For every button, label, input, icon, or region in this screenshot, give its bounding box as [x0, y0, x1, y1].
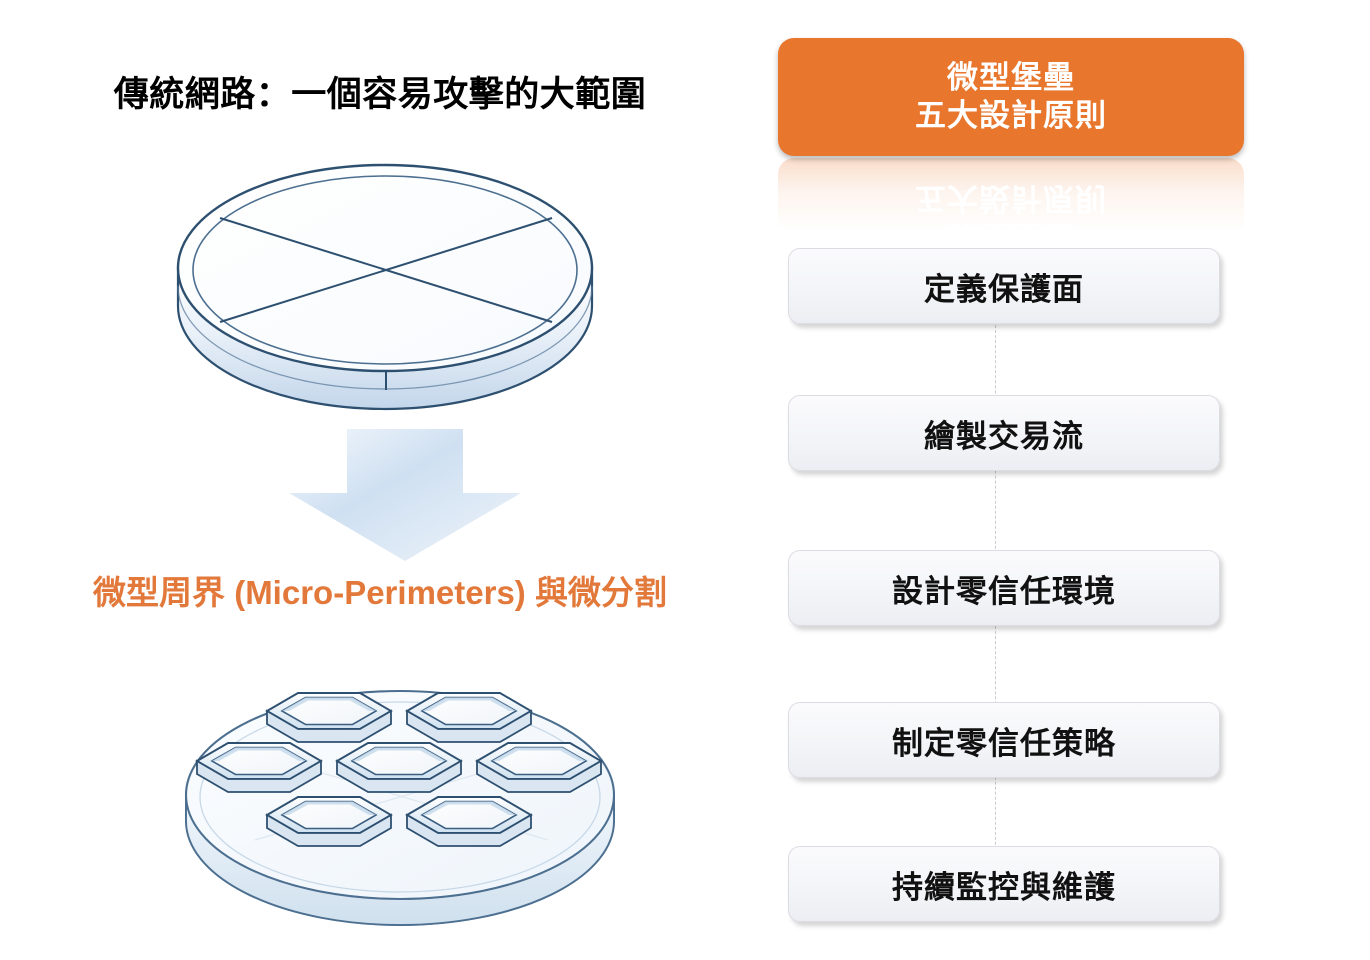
- principle-step-5-label: 持續監控與維護: [892, 862, 1116, 907]
- five-principles-panel: 微型堡壘 五大設計原則 微型堡壘 五大設計原則 定義保護面 繪製交易流 設計零信…: [770, 0, 1370, 960]
- hex-cell-front-left: [267, 797, 391, 846]
- principle-step-4[interactable]: 制定零信任策略: [788, 702, 1220, 778]
- hex-cell-center: [337, 743, 461, 792]
- principle-step-3[interactable]: 設計零信任環境: [788, 550, 1220, 626]
- principles-header-banner: 微型堡壘 五大設計原則: [778, 38, 1244, 156]
- principle-step-2[interactable]: 繪製交易流: [788, 395, 1220, 471]
- down-arrow-icon: [285, 425, 525, 565]
- principle-step-1[interactable]: 定義保護面: [788, 248, 1220, 324]
- hex-cell-mid-left: [197, 743, 321, 792]
- principles-header-group: 微型堡壘 五大設計原則 微型堡壘 五大設計原則: [778, 38, 1244, 228]
- hex-cell-back-right: [407, 693, 531, 742]
- principle-step-5[interactable]: 持續監控與維護: [788, 846, 1220, 922]
- principles-header-line1: 微型堡壘: [947, 59, 1075, 97]
- principles-header-reflection-line1: 微型堡壘: [947, 217, 1075, 234]
- hex-cell-front-right: [407, 797, 531, 846]
- principle-step-2-label: 繪製交易流: [924, 411, 1084, 456]
- micro-perimeters-title: 微型周界 (Micro-Perimeters) 與微分割: [0, 566, 760, 614]
- principles-step-list: 定義保護面 繪製交易流 設計零信任環境 制定零信任策略 持續監控與維護: [770, 240, 1370, 920]
- principle-step-1-label: 定義保護面: [924, 264, 1084, 309]
- disc-top: [178, 165, 592, 371]
- principles-header-reflection: 微型堡壘 五大設計原則: [778, 158, 1244, 234]
- legacy-network-disc-illustration: [150, 140, 620, 420]
- hex-cell-back-left: [267, 693, 391, 742]
- principles-header-reflection-line2: 五大設計原則: [915, 179, 1107, 217]
- micro-segmentation-honeycomb-illustration: [170, 625, 630, 945]
- hex-cell-mid-right: [477, 743, 601, 792]
- honeycomb-disc-top: [186, 691, 614, 899]
- principle-step-3-label: 設計零信任環境: [892, 566, 1116, 611]
- principle-step-4-label: 制定零信任策略: [892, 718, 1116, 763]
- left-illustration-panel: 傳統網路：一個容易攻擊的大範圍: [0, 0, 760, 960]
- legacy-network-title: 傳統網路：一個容易攻擊的大範圍: [0, 66, 760, 117]
- principles-header-line2: 五大設計原則: [915, 97, 1107, 135]
